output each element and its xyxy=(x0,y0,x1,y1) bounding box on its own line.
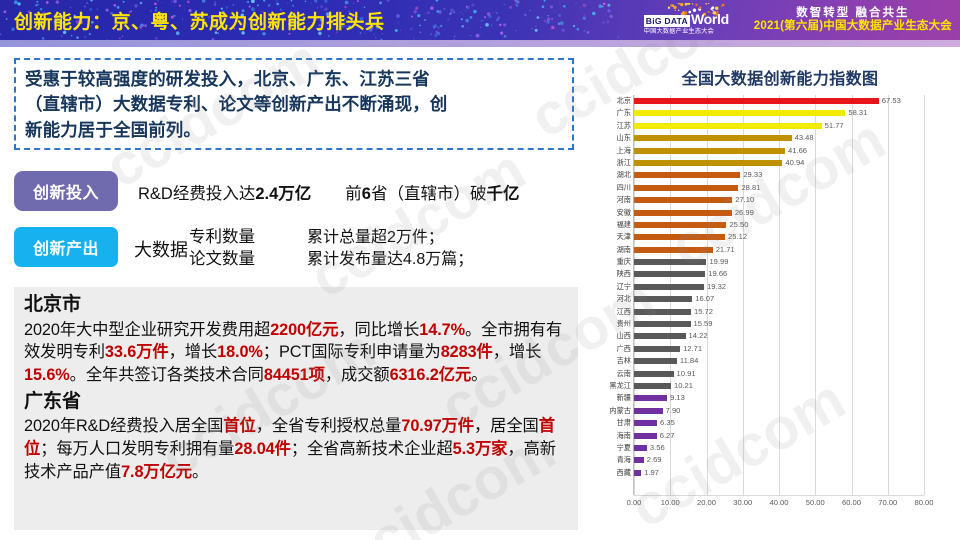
chart-value-label: 51.77 xyxy=(825,120,844,132)
highlighted-figure: 84451项 xyxy=(264,366,325,384)
chart-bar[interactable] xyxy=(634,445,647,451)
body-text: ；每万人口发明专利拥有量 xyxy=(40,440,234,458)
guangdong-heading: 广东省 xyxy=(24,390,568,415)
chart-value-label: 7.90 xyxy=(666,405,681,417)
innovation-index-chart: 全国大数据创新能力指数图 北京67.53广东58.31江苏51.77山东43.4… xyxy=(600,47,960,540)
output-value-papers: 累计发布量达4.8万篇； xyxy=(307,249,473,271)
highlighted-figure: 7.8万亿元 xyxy=(121,463,192,481)
output-item-list: 专利数量 论文数量 xyxy=(189,227,255,270)
logo-world-text: World xyxy=(691,13,729,25)
badge-innovation-investment: 创新投入 xyxy=(14,171,118,211)
header-right-group: BiG DATA World 中国大数据产业生态大会 数智转型 融合共生 202… xyxy=(642,2,952,38)
chart-value-label: 25.12 xyxy=(728,231,747,243)
chart-bar-row: 北京67.53 xyxy=(600,95,960,107)
chart-bar[interactable] xyxy=(634,172,740,178)
chart-bar[interactable] xyxy=(634,271,705,277)
chart-bar[interactable] xyxy=(634,346,680,352)
chart-bar[interactable] xyxy=(634,408,663,414)
chart-value-label: 28.81 xyxy=(741,182,760,194)
bigdata-world-logo: BiG DATA World 中国大数据产业生态大会 xyxy=(642,3,746,37)
innovation-output-row: 创新产出 大数据 专利数量 论文数量 累计总量超2万件； 累计发布量达4.8万篇… xyxy=(14,227,473,271)
chart-value-label: 14.22 xyxy=(689,330,708,342)
chart-bar-row: 江西15.72 xyxy=(600,306,960,318)
output-item-patents: 专利数量 xyxy=(189,227,255,248)
chart-bar[interactable] xyxy=(634,197,732,203)
chart-category-label: 内蒙古 xyxy=(600,405,631,417)
body-text: ，增长 xyxy=(169,343,218,361)
chart-bar-row: 黑龙江10.21 xyxy=(600,380,960,392)
left-panel: 受惠于较高强度的研发投入，北京、广东、江苏三省 （直辖市）大数据专利、论文等创新… xyxy=(0,47,600,540)
chart-value-label: 41.66 xyxy=(788,145,807,157)
investment-threshold: 千亿 xyxy=(486,185,519,203)
output-item-papers: 论文数量 xyxy=(189,249,255,270)
chart-bar[interactable] xyxy=(634,110,845,116)
chart-x-tick-labels: 0.0010.0020.0030.0040.0050.0060.0070.008… xyxy=(600,498,960,512)
chart-bar[interactable] xyxy=(634,420,657,426)
chart-value-label: 25.50 xyxy=(729,219,748,231)
highlighted-figure: 8283件 xyxy=(441,343,493,361)
output-prefix: 大数据 xyxy=(134,236,188,262)
chart-bar[interactable] xyxy=(634,148,785,154)
chart-bar-row: 吉林11.84 xyxy=(600,355,960,367)
chart-category-label: 湖南 xyxy=(600,244,631,256)
investment-province-count: 6 xyxy=(362,185,371,203)
chart-bar[interactable] xyxy=(634,98,879,104)
chart-bar[interactable] xyxy=(634,433,657,439)
beijing-heading: 北京市 xyxy=(24,293,568,318)
chart-x-axis xyxy=(634,495,924,496)
chart-category-label: 安徽 xyxy=(600,207,631,219)
chart-value-label: 1.97 xyxy=(644,467,659,479)
chart-bar-row: 安徽26.99 xyxy=(600,207,960,219)
chart-value-label: 29.33 xyxy=(743,169,762,181)
highlighted-figure: 33.6万件 xyxy=(105,343,169,361)
summary-line-2: （直辖市）大数据专利、论文等创新产出不断涌现，创 xyxy=(25,92,563,117)
chart-value-label: 3.56 xyxy=(650,442,665,454)
chart-x-tick: 40.00 xyxy=(769,498,788,507)
chart-bar[interactable] xyxy=(634,185,738,191)
chart-category-label: 云南 xyxy=(600,368,631,380)
investment-amount: 2.4万亿 xyxy=(255,185,311,203)
chart-value-label: 15.59 xyxy=(694,318,713,330)
chart-value-label: 15.72 xyxy=(694,306,713,318)
chart-bar[interactable] xyxy=(634,333,686,339)
chart-x-tick: 80.00 xyxy=(914,498,933,507)
chart-value-label: 11.84 xyxy=(680,355,698,367)
chart-value-label: 19.66 xyxy=(708,268,727,280)
body-text: 。全年共签订各类技术合同 xyxy=(70,366,264,384)
chart-bar-row: 天津25.12 xyxy=(600,231,960,243)
chart-category-label: 江苏 xyxy=(600,120,631,132)
chart-category-label: 上海 xyxy=(600,145,631,157)
chart-category-label: 河北 xyxy=(600,293,631,305)
chart-bar-row: 上海41.66 xyxy=(600,145,960,157)
chart-category-label: 黑龙江 xyxy=(600,380,631,392)
body-text: 2020年大中型企业研究开发费用超 xyxy=(24,321,270,339)
chart-category-label: 江西 xyxy=(600,306,631,318)
chart-value-label: 6.35 xyxy=(660,417,675,429)
chart-bar[interactable] xyxy=(634,371,674,377)
chart-category-label: 西藏 xyxy=(600,467,631,479)
chart-bar[interactable] xyxy=(634,123,822,129)
highlighted-figure: 18.0% xyxy=(217,343,263,361)
header-shadow xyxy=(0,40,960,47)
chart-category-label: 陕西 xyxy=(600,268,631,280)
chart-bar-row: 江苏51.77 xyxy=(600,120,960,132)
chart-bar-row: 云南10.91 xyxy=(600,368,960,380)
chart-category-label: 天津 xyxy=(600,231,631,243)
highlighted-figure: 首位 xyxy=(223,417,255,435)
chart-bar-row: 陕西19.66 xyxy=(600,268,960,280)
chart-bar-row: 内蒙古7.90 xyxy=(600,405,960,417)
beijing-paragraph: 2020年大中型企业研究开发费用超2200亿元，同比增长14.7%。全市拥有有效… xyxy=(24,319,568,387)
chart-value-label: 58.31 xyxy=(848,107,867,119)
body-text: 。 xyxy=(192,463,208,481)
chart-x-tick: 0.00 xyxy=(627,498,642,507)
output-value-patents: 累计总量超2万件； xyxy=(307,227,473,249)
chart-category-label: 湖北 xyxy=(600,169,631,181)
highlighted-figure: 70.97万件 xyxy=(401,417,474,435)
chart-x-tick: 30.00 xyxy=(733,498,752,507)
chart-category-label: 宁夏 xyxy=(600,442,631,454)
chart-value-label: 21.71 xyxy=(716,244,735,256)
chart-bar[interactable] xyxy=(634,135,792,141)
chart-category-label: 吉林 xyxy=(600,355,631,367)
chart-bar[interactable] xyxy=(634,296,692,302)
chart-bar-row: 辽宁19.32 xyxy=(600,281,960,293)
chart-bar[interactable] xyxy=(634,457,644,463)
chart-bar-row: 河南27.10 xyxy=(600,194,960,206)
chart-category-label: 北京 xyxy=(600,95,631,107)
chart-bar-row: 海南6.27 xyxy=(600,430,960,442)
chart-value-label: 19.32 xyxy=(707,281,726,293)
chart-bar-row: 青海2.69 xyxy=(600,454,960,466)
chart-bar-row: 山西14.22 xyxy=(600,330,960,342)
chart-bar-row: 甘肃6.35 xyxy=(600,417,960,429)
chart-category-label: 广西 xyxy=(600,343,631,355)
conference-title-block: 数智转型 融合共生 2021(第六届)中国大数据产业生态大会 xyxy=(754,7,952,33)
chart-x-tick: 10.00 xyxy=(661,498,680,507)
chart-value-label: 19.99 xyxy=(709,256,728,268)
summary-line-1: 受惠于较高强度的研发投入，北京、广东、江苏三省 xyxy=(25,67,563,92)
chart-bar[interactable] xyxy=(634,284,704,290)
summary-line-3: 新能力居于全国前列。 xyxy=(25,118,563,143)
chart-bar-row: 重庆19.99 xyxy=(600,256,960,268)
chart-category-label: 广东 xyxy=(600,107,631,119)
chart-bar-row: 西藏1.97 xyxy=(600,467,960,479)
chart-value-label: 12.71 xyxy=(683,343,702,355)
chart-x-tick: 20.00 xyxy=(697,498,716,507)
city-detail-panel: 北京市 2020年大中型企业研究开发费用超2200亿元，同比增长14.7%。全市… xyxy=(14,287,578,530)
chart-bar[interactable] xyxy=(634,395,667,401)
guangdong-paragraph: 2020年R&D经费投入居全国首位，全省专利授权总量70.97万件，居全国首位；… xyxy=(24,415,568,483)
highlighted-figure: 14.7% xyxy=(419,321,465,339)
chart-category-label: 福建 xyxy=(600,219,631,231)
chart-category-label: 新疆 xyxy=(600,392,631,404)
output-value-list: 累计总量超2万件； 累计发布量达4.8万篇； xyxy=(307,227,473,271)
chart-bar[interactable] xyxy=(634,358,677,364)
chart-category-label: 辽宁 xyxy=(600,281,631,293)
highlighted-figure: 15.6% xyxy=(24,366,70,384)
chart-bar-row: 湖南21.71 xyxy=(600,244,960,256)
chart-category-label: 山东 xyxy=(600,132,631,144)
chart-bar-row: 湖北29.33 xyxy=(600,169,960,181)
chart-value-label: 40.94 xyxy=(785,157,804,169)
chart-x-tick: 60.00 xyxy=(842,498,861,507)
body-text: ，同比增长 xyxy=(338,321,419,339)
chart-category-label: 浙江 xyxy=(600,157,631,169)
chart-category-label: 海南 xyxy=(600,430,631,442)
chart-bar[interactable] xyxy=(634,470,641,476)
chart-x-tick: 70.00 xyxy=(878,498,897,507)
chart-bar-row: 浙江40.94 xyxy=(600,157,960,169)
chart-bar-row: 山东43.48 xyxy=(600,132,960,144)
chart-bar[interactable] xyxy=(634,321,691,327)
chart-x-tick: 50.00 xyxy=(806,498,825,507)
header-bar: 创新能力：京、粤、苏成为创新能力排头兵 BiG DATA World 中国大数据… xyxy=(0,0,960,40)
body-text: ；PCT国际专利申请量为 xyxy=(263,343,441,361)
chart-value-label: 10.21 xyxy=(674,380,693,392)
conference-slogan: 数智转型 融合共生 xyxy=(796,7,909,20)
chart-value-label: 2.69 xyxy=(647,454,662,466)
chart-value-label: 6.27 xyxy=(660,430,675,442)
chart-value-label: 10.91 xyxy=(677,368,696,380)
body-text: 2020年R&D经费投入居全国 xyxy=(24,417,223,435)
chart-category-label: 四川 xyxy=(600,182,631,194)
body-text: ，全省专利授权总量 xyxy=(256,417,402,435)
chart-bar[interactable] xyxy=(634,234,725,240)
investment-provinces-mid: 省（直辖市）破 xyxy=(371,185,487,203)
chart-category-label: 甘肃 xyxy=(600,417,631,429)
highlighted-figure: 28.04件 xyxy=(234,440,290,458)
chart-title: 全国大数据创新能力指数图 xyxy=(600,65,960,89)
chart-category-label: 重庆 xyxy=(600,256,631,268)
chart-bar[interactable] xyxy=(634,210,732,216)
chart-bar[interactable] xyxy=(634,247,713,253)
chart-bar[interactable] xyxy=(634,309,691,315)
chart-category-label: 贵州 xyxy=(600,318,631,330)
chart-value-label: 27.10 xyxy=(735,194,754,206)
chart-value-label: 26.99 xyxy=(735,207,754,219)
slide-root: 创新能力：京、粤、苏成为创新能力排头兵 BiG DATA World 中国大数据… xyxy=(0,0,960,540)
chart-category-label: 河南 xyxy=(600,194,631,206)
chart-value-label: 43.48 xyxy=(795,132,814,144)
badge-innovation-output: 创新产出 xyxy=(14,227,118,267)
investment-text-pre: R&D经费投入达 xyxy=(138,185,255,203)
investment-provinces-pre: 前 xyxy=(345,185,362,203)
chart-value-label: 16.07 xyxy=(695,293,714,305)
body-text: ，居全国 xyxy=(474,417,539,435)
chart-bar-row: 广东58.31 xyxy=(600,107,960,119)
page-title: 创新能力：京、粤、苏成为创新能力排头兵 xyxy=(14,7,385,34)
chart-category-label: 青海 xyxy=(600,454,631,466)
chart-bar-row: 福建25.50 xyxy=(600,219,960,231)
chart-bar-row: 新疆9.13 xyxy=(600,392,960,404)
chart-value-label: 67.53 xyxy=(882,95,901,107)
chart-value-label: 9.13 xyxy=(670,392,685,404)
chart-bar-row: 四川28.81 xyxy=(600,182,960,194)
chart-bar-row: 河北16.07 xyxy=(600,293,960,305)
summary-callout: 受惠于较高强度的研发投入，北京、广东、江苏三省 （直辖市）大数据专利、论文等创新… xyxy=(14,58,574,150)
conference-name: 2021(第六届)中国大数据产业生态大会 xyxy=(754,20,952,33)
highlighted-figure: 5.3万家 xyxy=(453,440,508,458)
body-text: ；全省高新技术企业超 xyxy=(291,440,453,458)
chart-bar-row: 贵州15.59 xyxy=(600,318,960,330)
chart-bar[interactable] xyxy=(634,383,671,389)
chart-category-label: 山西 xyxy=(600,330,631,342)
body-text: 。 xyxy=(471,366,487,384)
body-text: ，增长 xyxy=(493,343,542,361)
innovation-investment-row: 创新投入 R&D经费投入达2.4万亿前6省（直辖市）破千亿 xyxy=(14,171,519,211)
chart-plot-area: 北京67.53广东58.31江苏51.77山东43.48上海41.66浙江40.… xyxy=(600,95,960,540)
body-text: ，成交额 xyxy=(325,366,390,384)
chart-bar-rows: 北京67.53广东58.31江苏51.77山东43.48上海41.66浙江40.… xyxy=(600,95,960,479)
logo-subtitle: 中国大数据产业生态大会 xyxy=(644,26,714,35)
investment-text: R&D经费投入达2.4万亿前6省（直辖市）破千亿 xyxy=(138,171,519,204)
highlighted-figure: 6316.2亿元 xyxy=(390,366,472,384)
chart-bar[interactable] xyxy=(634,160,782,166)
chart-bar-row: 宁夏3.56 xyxy=(600,442,960,454)
chart-bar[interactable] xyxy=(634,222,726,228)
highlighted-figure: 2200亿元 xyxy=(270,321,338,339)
chart-bar[interactable] xyxy=(634,259,706,265)
chart-bar-row: 广西12.71 xyxy=(600,343,960,355)
